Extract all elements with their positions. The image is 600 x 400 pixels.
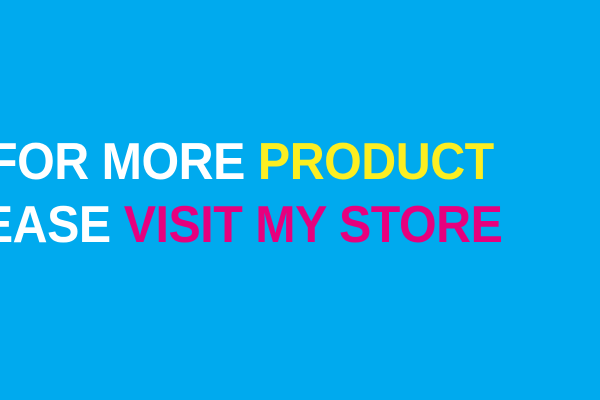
promo-banner: FOR MOREPRODUCT PLEASEVISIT MY STORE bbox=[0, 0, 600, 400]
headline-segment-please: PLEASE bbox=[0, 196, 111, 254]
headline-segment-visit-my-store: VISIT MY STORE bbox=[124, 196, 503, 254]
headline-line-1: FOR MOREPRODUCT bbox=[0, 136, 494, 188]
headline-segment-for-more: FOR MORE bbox=[0, 133, 245, 191]
headline-segment-product: PRODUCT bbox=[258, 133, 494, 191]
headline-line-2: PLEASEVISIT MY STORE bbox=[0, 199, 502, 251]
headline-block: FOR MOREPRODUCT PLEASEVISIT MY STORE bbox=[0, 0, 600, 400]
